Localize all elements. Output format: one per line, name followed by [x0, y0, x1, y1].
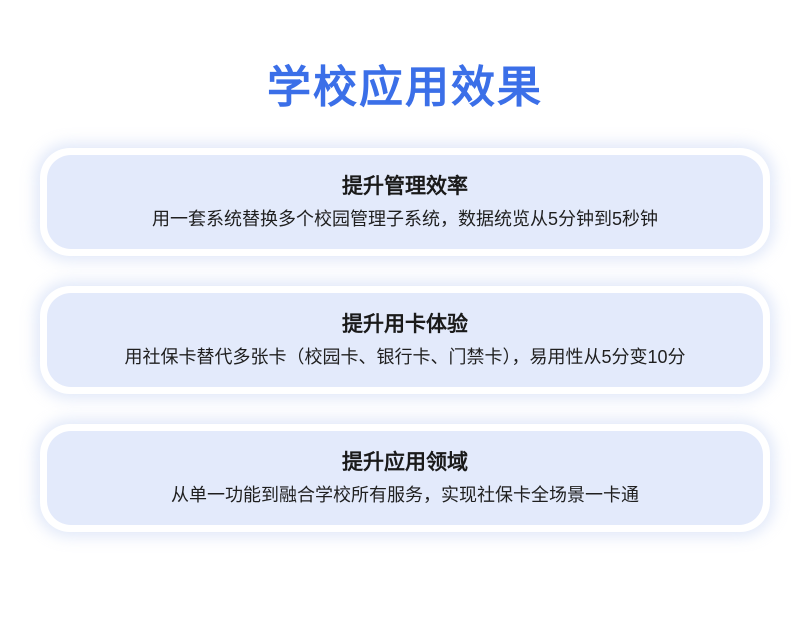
effect-card-body: 提升应用领域 从单一功能到融合学校所有服务，实现社保卡全场景一卡通: [47, 431, 763, 525]
effect-card-title: 提升管理效率: [342, 172, 468, 202]
effect-card-body: 提升用卡体验 用社保卡替代多张卡（校园卡、银行卡、门禁卡），易用性从5分变10分: [47, 293, 763, 387]
effect-card-description: 用社保卡替代多张卡（校园卡、银行卡、门禁卡），易用性从5分变10分: [124, 344, 685, 370]
effect-card-description: 从单一功能到融合学校所有服务，实现社保卡全场景一卡通: [171, 482, 639, 508]
effect-card-title: 提升应用领域: [342, 448, 468, 478]
effect-card-2: 提升用卡体验 用社保卡替代多张卡（校园卡、银行卡、门禁卡），易用性从5分变10分: [40, 286, 770, 394]
effect-card-description: 用一套系统替换多个校园管理子系统，数据统览从5分钟到5秒钟: [152, 206, 658, 232]
effect-card-3: 提升应用领域 从单一功能到融合学校所有服务，实现社保卡全场景一卡通: [40, 424, 770, 532]
effect-card-title: 提升用卡体验: [342, 310, 468, 340]
effect-card-list: 提升管理效率 用一套系统替换多个校园管理子系统，数据统览从5分钟到5秒钟 提升用…: [0, 148, 810, 532]
school-effect-page: 学校应用效果 提升管理效率 用一套系统替换多个校园管理子系统，数据统览从5分钟到…: [0, 0, 810, 622]
page-title: 学校应用效果: [0, 60, 810, 116]
effect-card-body: 提升管理效率 用一套系统替换多个校园管理子系统，数据统览从5分钟到5秒钟: [47, 155, 763, 249]
effect-card-1: 提升管理效率 用一套系统替换多个校园管理子系统，数据统览从5分钟到5秒钟: [40, 148, 770, 256]
